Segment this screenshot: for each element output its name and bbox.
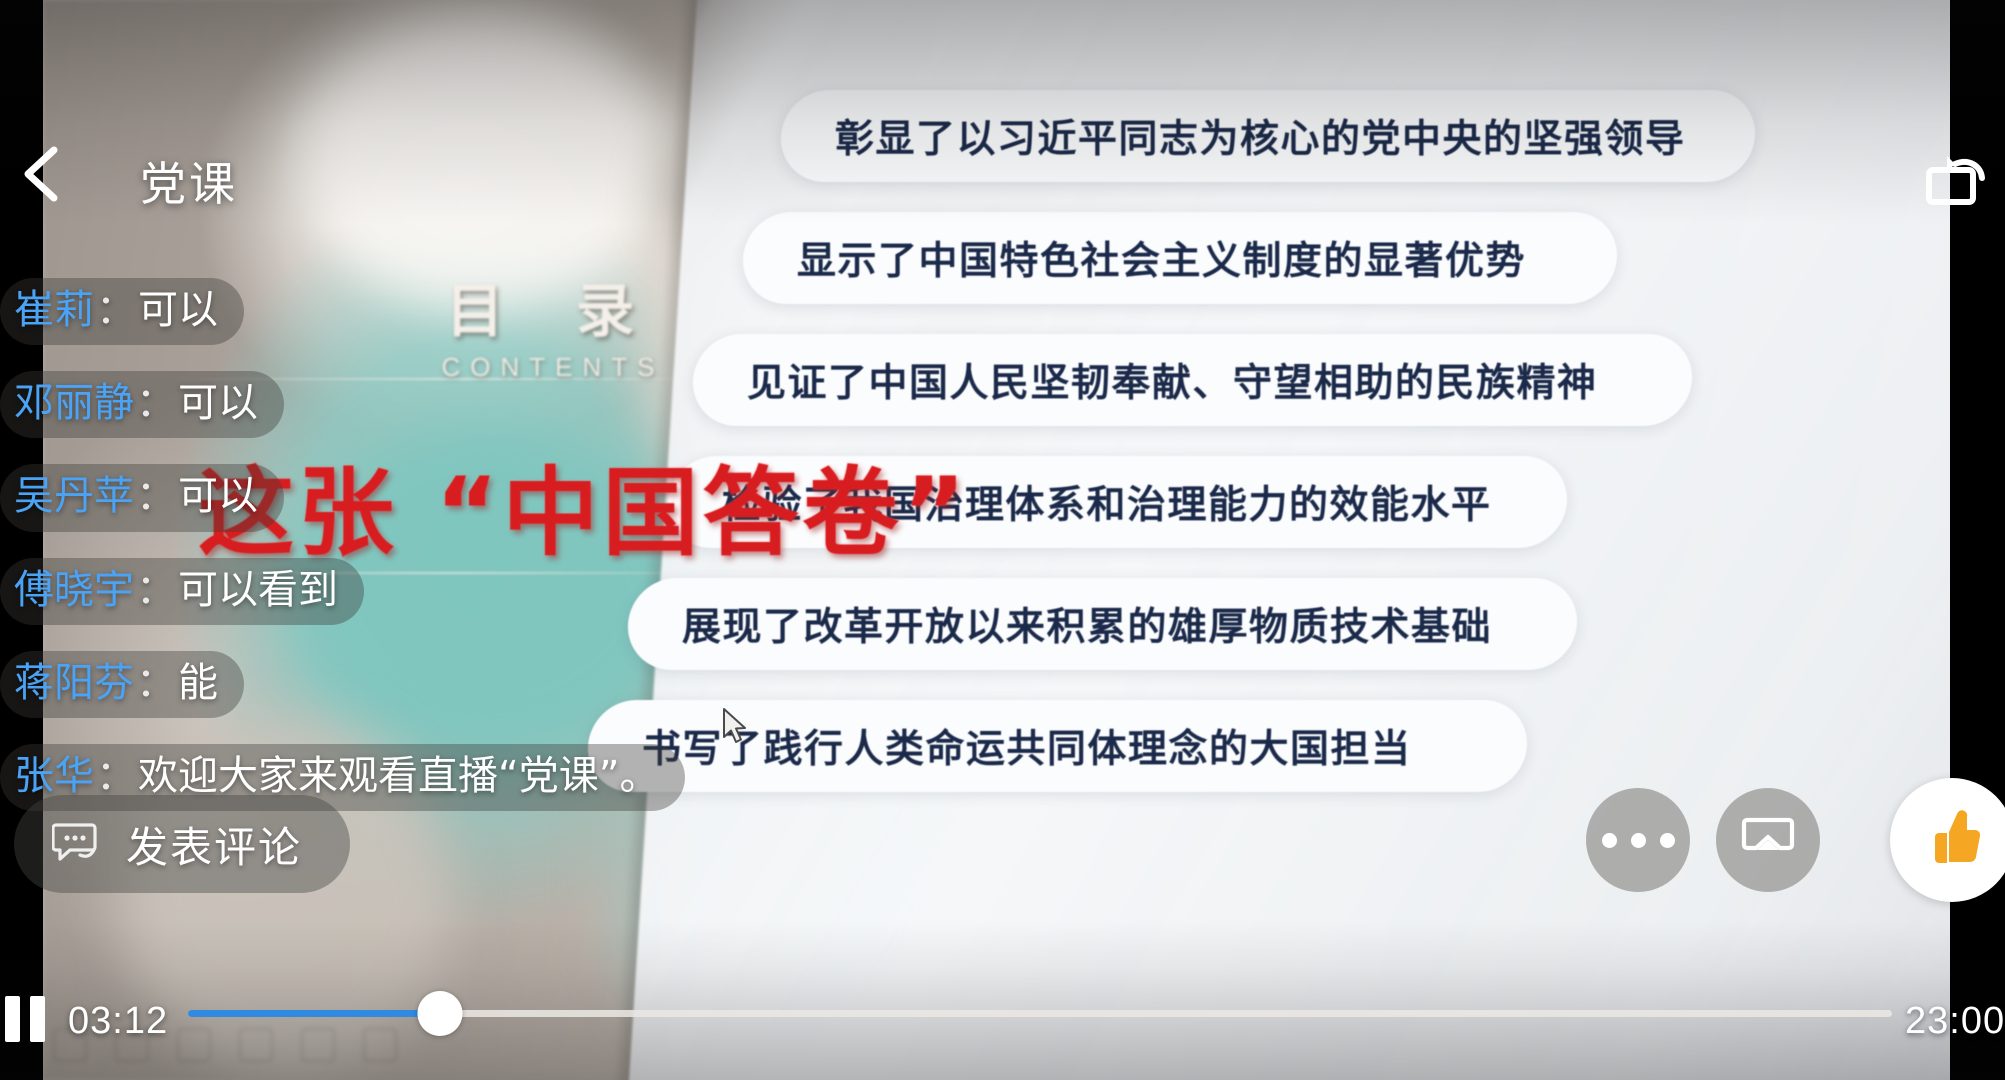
chat-separator: ：: [136, 660, 176, 707]
chat-separator: ：: [136, 473, 176, 520]
chat-message-text: 欢迎大家来观看直播“党课”。: [138, 753, 659, 800]
chat-username: 吴丹苹: [14, 473, 134, 520]
rotate-screen-icon: [1925, 193, 1987, 210]
post-comment-button[interactable]: 发表评论: [14, 795, 350, 893]
chat-username: 邓丽静: [14, 380, 134, 427]
cast-button[interactable]: [1716, 788, 1820, 892]
airplay-cast-icon: [1741, 814, 1795, 867]
like-button[interactable]: [1890, 778, 2005, 902]
more-options-button[interactable]: [1586, 788, 1690, 892]
chat-username: 崔莉: [14, 287, 94, 334]
more-horizontal-icon: [1602, 833, 1675, 848]
chat-message-text: 可以看到: [178, 567, 338, 614]
live-chat-overlay: 崔莉 ： 可以 邓丽静 ： 可以 吴丹苹 ： 可以 傅晓宇 ： 可以看到: [0, 278, 900, 837]
chat-bubble: 傅晓宇 ： 可以看到: [0, 558, 364, 625]
rotate-screen-button[interactable]: [1925, 150, 1987, 206]
seek-bar-handle[interactable]: [418, 991, 463, 1036]
chat-message-row: 吴丹苹 ： 可以: [0, 464, 900, 531]
chat-separator: ：: [136, 380, 176, 427]
chat-bubble: 吴丹苹 ： 可以: [0, 464, 284, 531]
comment-bubble-icon: [52, 819, 102, 870]
chat-bubble: 蒋阳芬 ： 能: [0, 651, 244, 718]
pause-icon: [30, 996, 45, 1042]
chevron-left-icon: [8, 140, 76, 208]
pause-icon: [5, 996, 20, 1042]
video-blur-blob: [298, 20, 668, 310]
video-player-screen: 目 录 CONTENTS 彰显了以习近平同志为核心的党中央的坚强领导 显示了中国…: [0, 0, 2005, 1080]
chat-separator: ：: [96, 287, 136, 334]
current-time-label: 03:12: [68, 1000, 168, 1043]
chat-bubble: 崔莉 ： 可以: [0, 278, 244, 345]
page-title: 党课: [140, 148, 238, 214]
chat-message-row: 傅晓宇 ： 可以看到: [0, 558, 900, 625]
chat-username: 傅晓宇: [14, 567, 134, 614]
seek-bar-progress: [188, 1010, 440, 1017]
chat-message-text: 能: [178, 660, 218, 707]
chat-message-row: 蒋阳芬 ： 能: [0, 651, 900, 718]
chat-message-text: 可以: [178, 380, 258, 427]
chat-username: 蒋阳芬: [14, 660, 134, 707]
back-button[interactable]: [8, 140, 76, 208]
chat-message-text: 可以: [178, 473, 258, 520]
chat-message-row: 崔莉 ： 可以: [0, 278, 900, 345]
chat-separator: ：: [136, 567, 176, 614]
chat-message-row: 邓丽静 ： 可以: [0, 371, 900, 438]
thumbs-up-icon: [1919, 805, 1985, 876]
chat-bubble: 邓丽静 ： 可以: [0, 371, 284, 438]
pause-button[interactable]: [5, 996, 49, 1042]
total-time-label: 23:00: [1905, 1000, 2005, 1043]
post-comment-label: 发表评论: [126, 814, 302, 875]
chat-separator: ：: [96, 753, 136, 800]
chat-username: 张华: [14, 753, 94, 800]
chat-message-text: 可以: [138, 287, 218, 334]
seek-bar[interactable]: [188, 1010, 1892, 1017]
